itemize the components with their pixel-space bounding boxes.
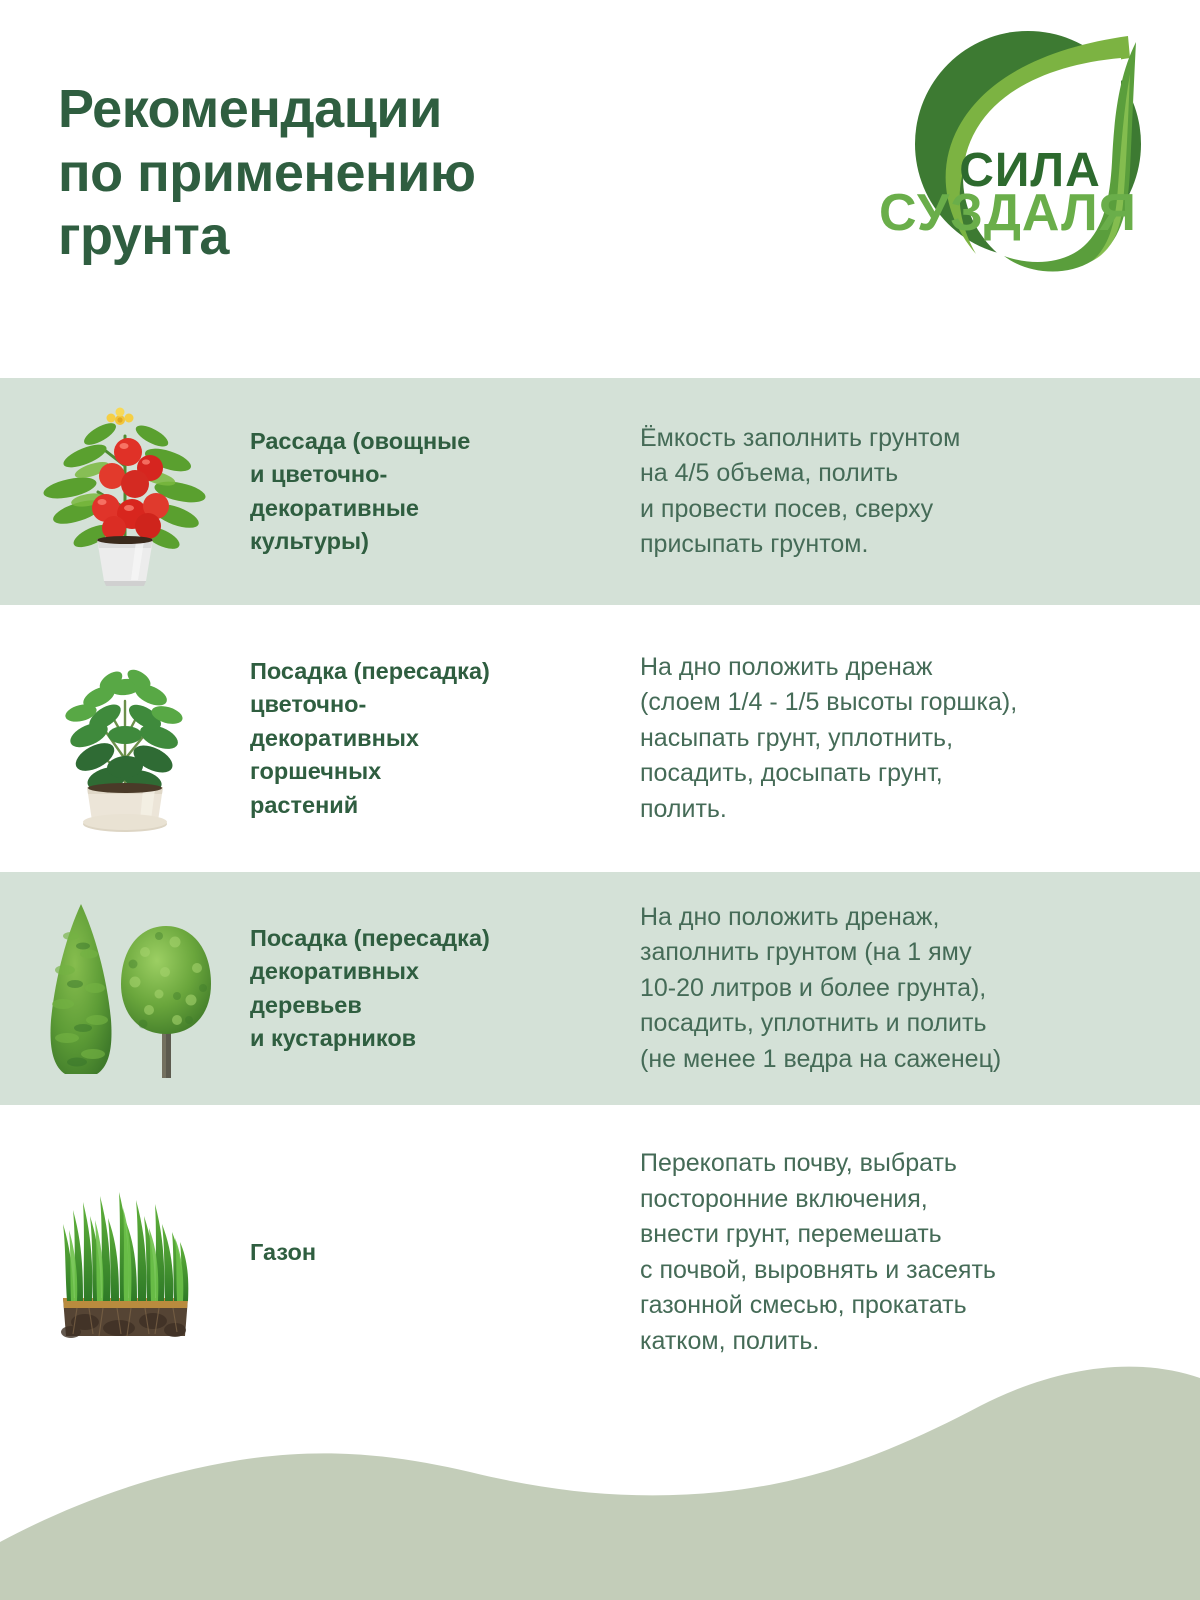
- table-row: Рассада (овощные и цветочно- декоративны…: [0, 378, 1200, 605]
- row-description: Перекопать почву, выбрать посторонние вк…: [640, 1146, 1200, 1359]
- row-description: На дно положить дренаж (слоем 1/4 - 1/5 …: [640, 650, 1200, 828]
- row-description: Ёмкость заполнить грунтом на 4/5 объема,…: [640, 421, 1200, 563]
- table-row: Посадка (пересадка) цветочно- декоративн…: [0, 605, 1200, 872]
- page-header: Рекомендации по применению грунта СИЛА С…: [0, 0, 1200, 378]
- row-image-cell: [0, 872, 250, 1105]
- lawn-turf-sod-image: [33, 1158, 218, 1348]
- wave-shape: [0, 1367, 1200, 1600]
- row-image-cell: [0, 1105, 250, 1400]
- tomato-seedling-in-pot-image: [40, 396, 210, 588]
- page-title: Рекомендации по применению грунта: [58, 78, 658, 269]
- row-description: На дно положить дренаж, заполнить грунто…: [640, 900, 1200, 1078]
- brand-logo: СИЛА СУЗДАЛЯ: [878, 18, 1168, 290]
- logo-text-line2: СУЗДАЛЯ: [879, 184, 1137, 242]
- row-image-cell: [0, 605, 250, 872]
- recommendations-table: Рассада (овощные и цветочно- декоративны…: [0, 378, 1200, 1400]
- row-label: Рассада (овощные и цветочно- декоративны…: [250, 425, 640, 558]
- row-label: Газон: [250, 1236, 640, 1269]
- decorative-trees-image: [25, 896, 225, 1081]
- leaf-circle-logo-icon: СИЛА СУЗДАЛЯ: [878, 18, 1168, 290]
- row-label: Посадка (пересадка) цветочно- декоративн…: [250, 655, 640, 822]
- table-row: Газон Перекопать почву, выбрать посторон…: [0, 1105, 1200, 1400]
- table-row: Посадка (пересадка) декоративных деревье…: [0, 872, 1200, 1105]
- row-image-cell: [0, 378, 250, 605]
- row-label: Посадка (пересадка) декоративных деревье…: [250, 922, 640, 1055]
- potted-houseplant-image: [45, 639, 205, 839]
